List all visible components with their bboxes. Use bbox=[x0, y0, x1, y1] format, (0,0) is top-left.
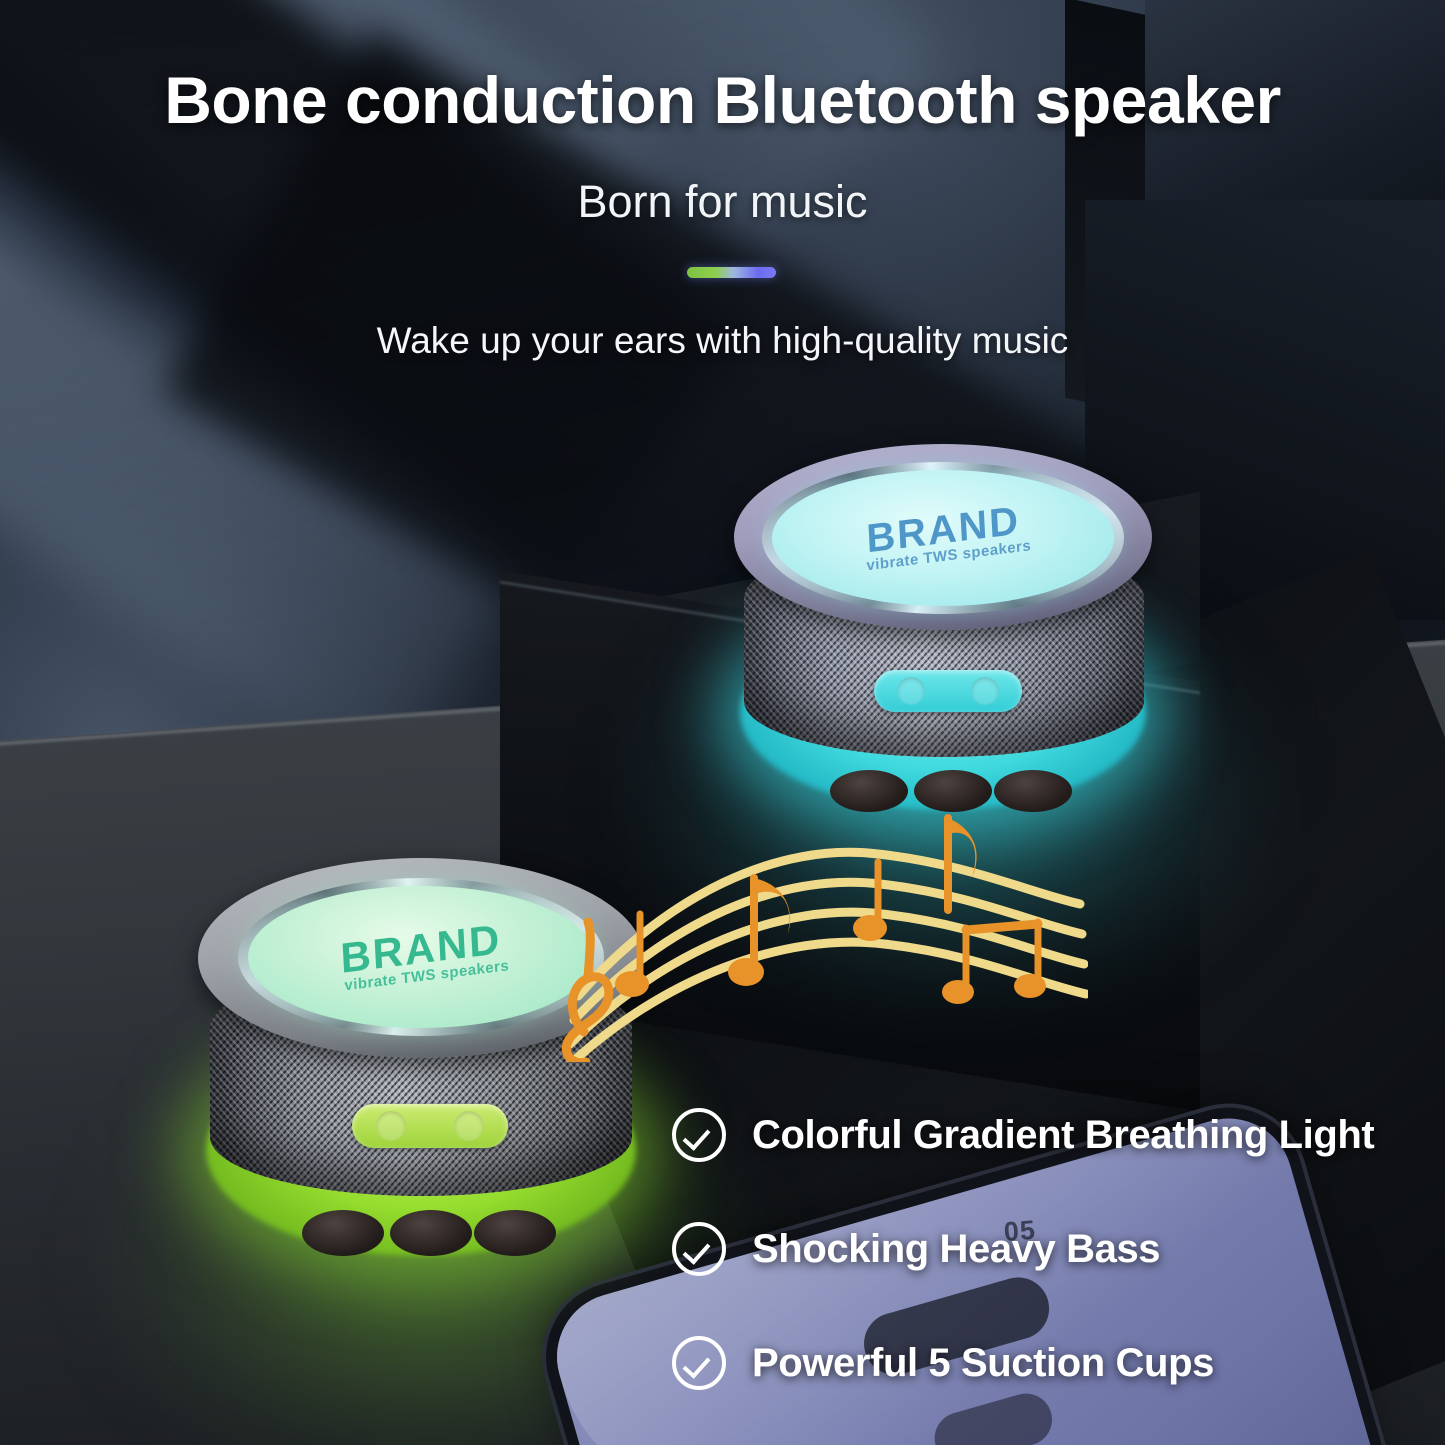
feature-item: Shocking Heavy Bass bbox=[672, 1222, 1445, 1276]
gradient-divider bbox=[687, 267, 776, 278]
speaker-button[interactable] bbox=[897, 677, 925, 705]
speaker-button[interactable] bbox=[376, 1111, 406, 1141]
check-circle-icon bbox=[672, 1336, 726, 1390]
music-notes-graphic bbox=[548, 782, 1088, 1062]
suction-cup bbox=[302, 1210, 384, 1256]
feature-label: Colorful Gradient Breathing Light bbox=[752, 1113, 1374, 1158]
speaker-button-panel[interactable] bbox=[874, 670, 1022, 712]
feature-item: Colorful Gradient Breathing Light bbox=[672, 1108, 1445, 1162]
check-circle-icon bbox=[672, 1108, 726, 1162]
speaker-button[interactable] bbox=[971, 677, 999, 705]
speaker-button-panel[interactable] bbox=[352, 1104, 508, 1148]
page-subtitle: Born for music bbox=[0, 176, 1445, 228]
feature-item: Powerful 5 Suction Cups bbox=[672, 1336, 1445, 1390]
speaker-button[interactable] bbox=[454, 1111, 484, 1141]
speaker-glowing-face: BRAND vibrate TWS speakers bbox=[772, 470, 1114, 606]
speaker-glowing-face: BRAND vibrate TWS speakers bbox=[248, 886, 594, 1028]
feature-list: Colorful Gradient Breathing Light Shocki… bbox=[672, 1108, 1445, 1445]
page-tagline: Wake up your ears with high-quality musi… bbox=[0, 320, 1445, 362]
feature-label: Shocking Heavy Bass bbox=[752, 1227, 1160, 1272]
bluetooth-speaker-cyan: BRAND vibrate TWS speakers bbox=[718, 432, 1168, 822]
product-banner: 05 Bone conduction Bluetooth speaker Bor… bbox=[0, 0, 1445, 1445]
feature-label: Powerful 5 Suction Cups bbox=[752, 1341, 1214, 1386]
suction-cup bbox=[474, 1210, 556, 1256]
check-circle-icon bbox=[672, 1222, 726, 1276]
page-title: Bone conduction Bluetooth speaker bbox=[0, 62, 1445, 138]
suction-cup bbox=[390, 1210, 472, 1256]
